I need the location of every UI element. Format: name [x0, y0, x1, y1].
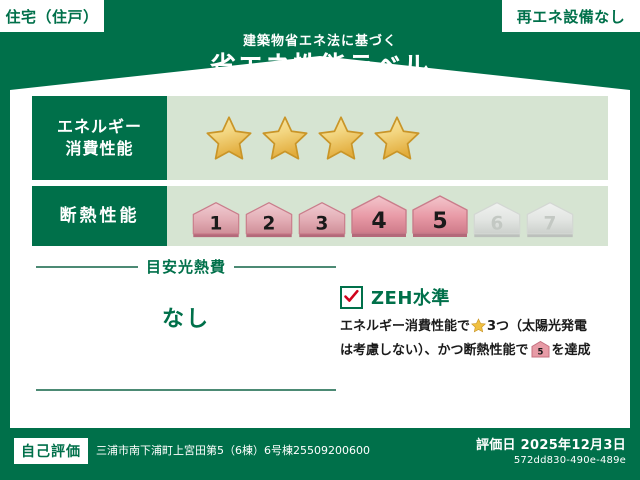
zeh-standard-block: ZEH水準 エネルギー消費性能で3つ（太陽光発電 は考慮しない）、かつ断熱性能で… — [340, 284, 612, 366]
energy-performance-value — [167, 96, 608, 180]
zeh-desc-line1: エネルギー消費性能で — [340, 319, 470, 334]
cost-heading-text: 目安光熱費 — [146, 256, 226, 277]
energy-key-line2: 消費性能 — [65, 138, 133, 160]
insulation-grade-1: 1 — [191, 201, 241, 238]
zeh-title-text: ZEH水準 — [371, 284, 450, 310]
estimated-utility-cost-heading: 目安光熱費 — [36, 256, 336, 277]
insulation-grade-scale: 1234567 — [167, 194, 575, 238]
estimated-utility-cost-value: なし — [36, 301, 336, 333]
self-evaluation-badge: 自己評価 — [14, 438, 88, 464]
zeh-desc-tail: を達成 — [552, 343, 591, 358]
star-rating — [167, 115, 421, 161]
renewable-equipment-tag: 再エネ設備なし — [502, 0, 640, 32]
title-subtitle: 建築物省エネ法に基づく — [0, 34, 640, 50]
energy-performance-label-key: エネルギー 消費性能 — [32, 96, 167, 180]
footer: 自己評価 三浦市南下浦町上宮田第5（6棟）6号棟25509200600 評価日 … — [0, 428, 640, 480]
cost-section-divider — [36, 389, 336, 391]
svg-text:7: 7 — [544, 214, 557, 235]
insulation-grade-2: 2 — [244, 201, 294, 238]
inline-grade-badge: 5 — [531, 347, 550, 362]
insulation-performance-label-key: 断熱性能 — [32, 186, 167, 246]
property-address: 三浦市南下浦町上宮田第5（6棟）6号棟25509200600 — [96, 442, 370, 458]
star-icon — [205, 115, 253, 161]
star-icon — [373, 115, 421, 161]
insulation-grade-7: 7 — [525, 201, 575, 238]
svg-text:5: 5 — [432, 209, 447, 234]
energy-performance-label: 住宅（住戸） 再エネ設備なし 建築物省エネ法に基づく 省エネ性能ラベル エネルギ… — [0, 0, 640, 480]
zeh-desc-line2: は考慮しない）、かつ断熱性能で — [340, 343, 529, 358]
zeh-title-row: ZEH水準 — [340, 284, 612, 310]
insulation-grade-4: 4 — [350, 194, 408, 238]
inline-star-icon — [471, 322, 486, 337]
insulation-performance-value: 1234567 — [167, 186, 608, 246]
svg-text:3: 3 — [316, 214, 329, 235]
star-icon — [261, 115, 309, 161]
heading-rule-left — [36, 266, 138, 268]
insulation-key-text: 断熱性能 — [60, 205, 140, 228]
zeh-description: エネルギー消費性能で3つ（太陽光発電 は考慮しない）、かつ断熱性能で5を達成 — [340, 316, 612, 366]
svg-text:5: 5 — [537, 348, 543, 358]
evaluation-date-block: 評価日 2025年12月3日 572dd830-490e-489e — [476, 434, 626, 466]
heading-rule-right — [234, 266, 336, 268]
label-panel: エネルギー 消費性能 断熱性能 1234567 目安光熱費 — [10, 56, 630, 428]
insulation-performance-row: 断熱性能 1234567 — [32, 186, 608, 246]
svg-text:1: 1 — [210, 214, 223, 235]
insulation-grade-5: 5 — [411, 194, 469, 238]
insulation-grade-3: 3 — [297, 201, 347, 238]
zeh-desc-star-count: 3つ（太陽光発電 — [487, 319, 587, 334]
evaluation-date: 評価日 2025年12月3日 — [476, 434, 626, 453]
building-type-tag: 住宅（住戸） — [0, 0, 104, 32]
svg-text:4: 4 — [371, 209, 386, 234]
svg-text:6: 6 — [491, 214, 504, 235]
svg-text:2: 2 — [263, 214, 276, 235]
evaluation-id: 572dd830-490e-489e — [476, 455, 626, 466]
energy-key-line1: エネルギー — [57, 116, 142, 138]
checkbox-checked-icon — [340, 286, 363, 309]
star-icon — [317, 115, 365, 161]
insulation-grade-6: 6 — [472, 201, 522, 238]
energy-performance-row: エネルギー 消費性能 — [32, 96, 608, 180]
